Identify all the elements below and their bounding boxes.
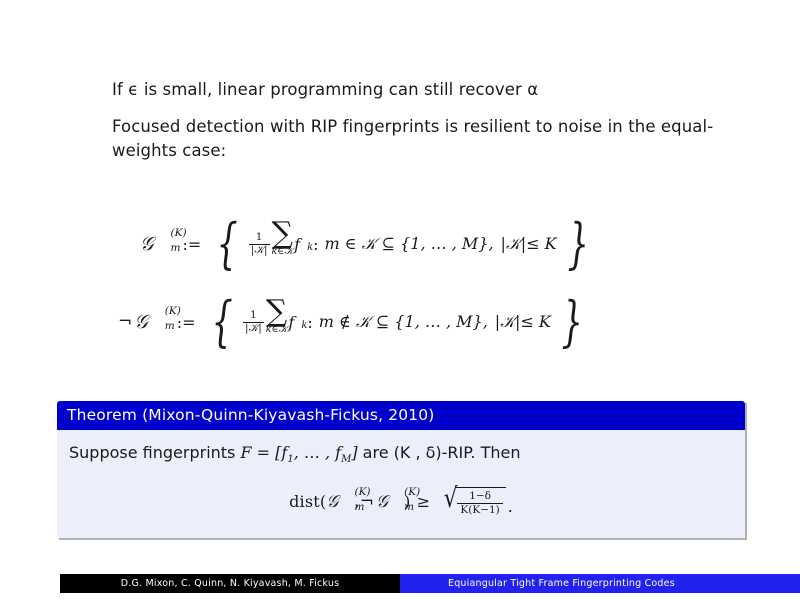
superscript-K: (K) bbox=[354, 486, 370, 498]
equation-area: 𝒢(K)m := { 1 |𝒦| ∑ k∈𝒦 fk : m ∈ 𝒦 ⊆ {1, … bbox=[0, 205, 800, 361]
slide-body-text: If ϵ is small, linear programming can st… bbox=[112, 78, 752, 162]
summation-limit: k∈𝒦 bbox=[266, 324, 288, 335]
subscript-m: m bbox=[165, 320, 175, 332]
theorem-statement: Suppose fingerprints F = [f1, … , fM] ar… bbox=[69, 442, 733, 467]
superscript-K: (K) bbox=[165, 305, 181, 317]
subscript-m: m bbox=[171, 242, 181, 254]
fraction-denominator: K(K−1) bbox=[457, 503, 502, 516]
script-g-symbol: 𝒢(K)m bbox=[140, 233, 171, 255]
cardinality-condition: |𝒦|≤ K bbox=[501, 234, 557, 254]
coefficient-fraction: 1 |𝒦| bbox=[243, 310, 264, 335]
equation-2-left-hand-side: ¬ 𝒢(K)m := bbox=[118, 311, 205, 333]
set-builder-colon: : bbox=[307, 313, 312, 332]
dist-argument-1: 𝒢(K)m bbox=[326, 492, 354, 512]
equation-2-set-body: 1 |𝒦| ∑ k∈𝒦 fk : m ∉ 𝒦 ⊆ {1, … , M}, |𝒦|… bbox=[240, 304, 554, 339]
square-root-expression: √ 1−δ K(K−1) bbox=[442, 487, 506, 516]
fingerprint-matrix: F = [f1, … , fM] bbox=[240, 443, 357, 462]
left-brace: { bbox=[217, 227, 238, 260]
coefficient-fraction: 1 |𝒦| bbox=[249, 232, 270, 257]
superscript-K: (K) bbox=[171, 227, 187, 239]
sigma-icon: ∑ bbox=[272, 221, 293, 246]
subscript-m: m bbox=[404, 501, 414, 513]
dist-operator: dist bbox=[289, 492, 320, 511]
summand-f-k: fk bbox=[294, 235, 307, 254]
equation-period: . bbox=[508, 497, 513, 516]
summand-f-k: fk bbox=[288, 313, 301, 332]
fraction-numerator: 1 bbox=[254, 232, 265, 244]
radical-icon: √ bbox=[444, 487, 458, 516]
membership-condition: m ∈ 𝒦 ⊆ {1, … , M}, bbox=[324, 234, 493, 254]
radicand-fraction: 1−δ K(K−1) bbox=[457, 490, 502, 516]
theorem-block: Theorem (Mixon-Quinn-Kiyavash-Fickus, 20… bbox=[57, 401, 745, 538]
paragraph-2: Focused detection with RIP fingerprints … bbox=[112, 115, 752, 162]
matrix-subscript-2: M bbox=[341, 454, 351, 465]
theorem-title: Theorem (Mixon-Quinn-Kiyavash-Fickus, 20… bbox=[57, 401, 745, 430]
paragraph-1: If ϵ is small, linear programming can st… bbox=[112, 78, 752, 101]
superscript-K: (K) bbox=[404, 486, 420, 498]
cardinality-condition: |𝒦|≤ K bbox=[495, 312, 551, 332]
negation-icon: ¬ bbox=[118, 312, 132, 332]
slide-footer: D.G. Mixon, C. Quinn, N. Kiyavash, M. Fi… bbox=[60, 574, 800, 593]
set-builder-colon: : bbox=[313, 235, 318, 254]
summand-subscript: k bbox=[307, 242, 313, 253]
script-g-symbol: 𝒢(K)m bbox=[134, 311, 165, 333]
footer-authors: D.G. Mixon, C. Quinn, N. Kiyavash, M. Fi… bbox=[60, 574, 400, 593]
statement-lead: Suppose fingerprints bbox=[69, 443, 235, 462]
membership-condition: m ∉ 𝒦 ⊆ {1, … , M}, bbox=[319, 312, 488, 332]
summation-operator: ∑ k∈𝒦 bbox=[266, 299, 288, 334]
presentation-slide: If ϵ is small, linear programming can st… bbox=[0, 0, 800, 600]
fraction-numerator: 1 bbox=[248, 310, 259, 322]
sigma-icon: ∑ bbox=[266, 299, 287, 324]
footer-title: Equiangular Tight Frame Fingerprinting C… bbox=[400, 574, 800, 593]
equation-1-set-body: 1 |𝒦| ∑ k∈𝒦 fk : m ∈ 𝒦 ⊆ {1, … , M}, |𝒦|… bbox=[246, 226, 560, 261]
theorem-equation: dist(𝒢(K)m,¬𝒢(K)m) ≥ √ 1−δ K(K−1) . bbox=[69, 487, 733, 516]
summand-subscript: k bbox=[301, 320, 307, 331]
right-brace: } bbox=[561, 305, 582, 338]
summation-limit: k∈𝒦 bbox=[272, 246, 294, 257]
radicand: 1−δ K(K−1) bbox=[456, 487, 505, 516]
fraction-denominator: |𝒦| bbox=[243, 322, 264, 335]
equation-not-g-set-definition: ¬ 𝒢(K)m := { 1 |𝒦| ∑ k∈𝒦 fk : m ∉ 𝒦 ⊆ {1… bbox=[0, 283, 800, 361]
fraction-denominator: |𝒦| bbox=[249, 244, 270, 257]
equation-1-left-hand-side: 𝒢(K)m := bbox=[140, 233, 210, 255]
theorem-body: Suppose fingerprints F = [f1, … , fM] ar… bbox=[57, 430, 745, 538]
left-brace: { bbox=[211, 305, 232, 338]
right-brace: } bbox=[567, 227, 588, 260]
fraction-numerator: 1−δ bbox=[466, 490, 494, 502]
statement-tail: are (K , δ)-RIP. Then bbox=[363, 443, 521, 462]
dist-argument-2: 𝒢(K)m bbox=[376, 492, 404, 512]
equation-g-set-definition: 𝒢(K)m := { 1 |𝒦| ∑ k∈𝒦 fk : m ∈ 𝒦 ⊆ {1, … bbox=[0, 205, 800, 283]
subscript-m: m bbox=[354, 501, 364, 513]
summation-operator: ∑ k∈𝒦 bbox=[272, 221, 294, 256]
